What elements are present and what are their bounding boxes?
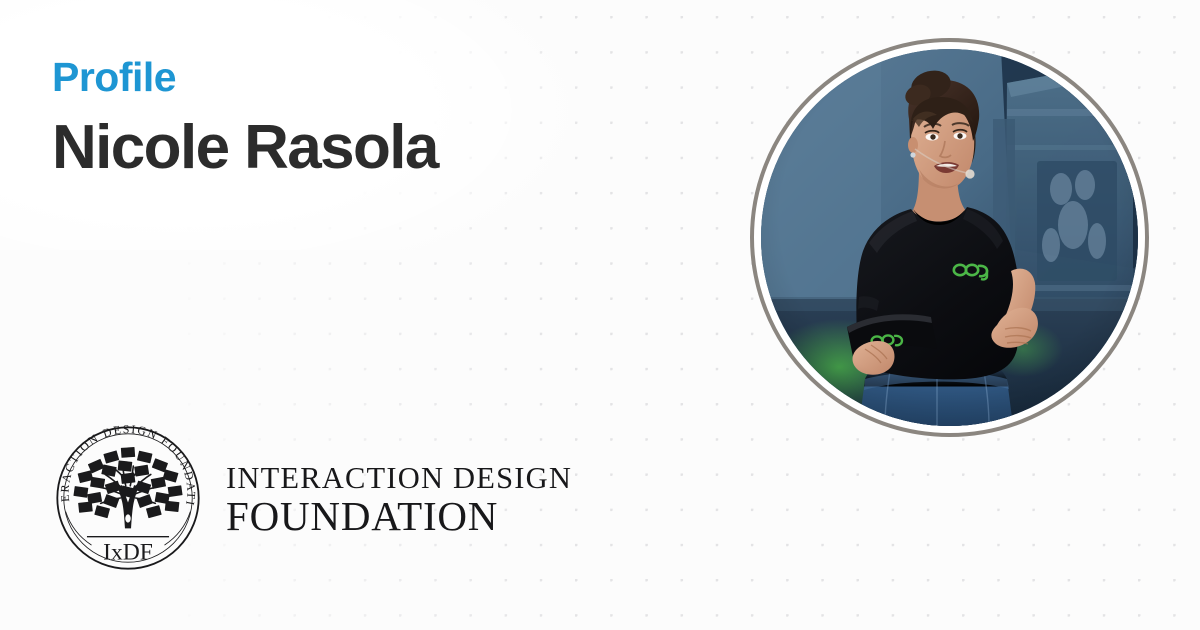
headline-block: Profile Nicole Rasola (52, 56, 438, 180)
ixdf-seal-logo: INTERACTION DESIGN FOUNDATION (52, 422, 204, 574)
seal-abbreviation: IxDF (103, 540, 153, 566)
seal-right-flourish (164, 512, 190, 545)
profile-eyebrow-label: Profile (52, 56, 438, 99)
profile-card: Profile Nicole Rasola INTERACTION DESIGN… (0, 0, 1200, 630)
seal-left-flourish (66, 512, 92, 545)
portrait-image-clip (761, 49, 1138, 426)
brand-lockup: INTERACTION DESIGN FOUNDATION (52, 422, 572, 574)
profile-portrait (750, 38, 1149, 437)
portrait-illustration (761, 49, 1138, 426)
ixdf-wordmark: INTERACTION DESIGN FOUNDATION (226, 460, 572, 536)
page-title: Nicole Rasola (52, 115, 438, 180)
wordmark-line-2: FOUNDATION (226, 496, 572, 536)
seal-tree-emblem (73, 447, 182, 537)
wordmark-line-1: INTERACTION DESIGN (226, 464, 572, 494)
